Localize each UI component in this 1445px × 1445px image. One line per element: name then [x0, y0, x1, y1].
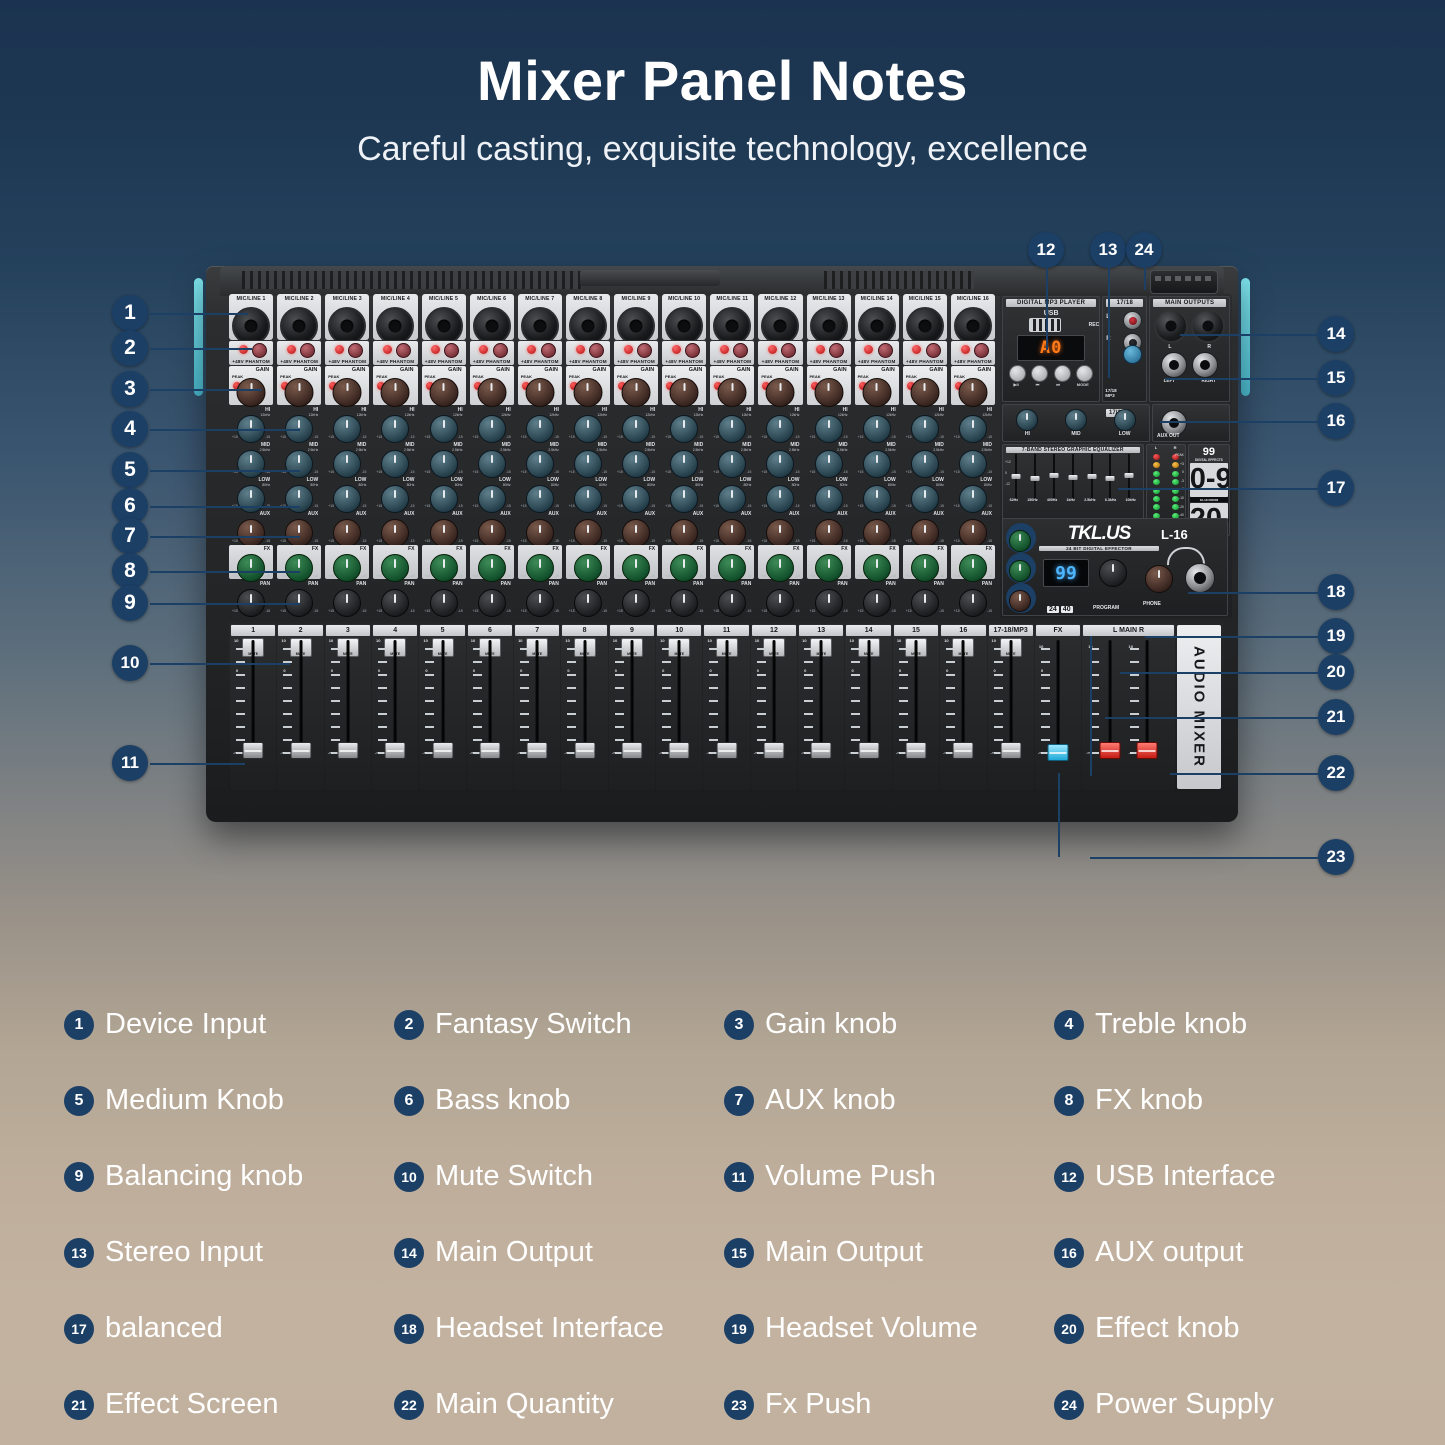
channel-1-input-jack[interactable]: MIC/LINE 1 [229, 294, 273, 340]
channel-14-mid-row: MID 2.5kHz +15-15 [855, 441, 899, 475]
fader-channel-1-cap[interactable] [243, 742, 264, 759]
channel-15-input-jack[interactable]: MIC/LINE 15 [903, 294, 947, 340]
channel-8-low-knob[interactable] [574, 485, 602, 513]
channel-12-hi-knob[interactable] [766, 415, 794, 443]
fader-channel-13-scale-top: 10 [802, 638, 806, 643]
channel-14-low-knob[interactable] [863, 485, 891, 513]
channel-4-mid-knob[interactable] [381, 450, 409, 478]
channel-4-input-jack[interactable]: MIC/LINE 4 [373, 294, 417, 340]
channel-11-hi-row: HI 12kHz +15-15 [710, 406, 754, 440]
channel-2-fx-knob[interactable] [285, 554, 313, 582]
channel-10-mid-knob[interactable] [670, 450, 698, 478]
channel-10-low-knob[interactable] [670, 485, 698, 513]
channel-4-hi-knob[interactable] [381, 415, 409, 443]
legend-badge-2: 2 [394, 1010, 424, 1040]
fader-1718-mp3-scale-mid: 0 [994, 668, 996, 673]
channel-1-gain[interactable]: GAINPEAK [229, 366, 273, 405]
master-low-knob[interactable] [1114, 409, 1136, 431]
fader-channel-2-scale-mid: 0 [283, 668, 285, 673]
channel-1-phantom[interactable]: +48V PHANTOM [229, 341, 273, 364]
channel-strip-16: MIC/LINE 16 +48V PHANTOM GAINPEAK HI 12k… [950, 294, 996, 614]
legend-badge-14: 14 [394, 1238, 424, 1268]
fader-channel-7-cap[interactable] [527, 742, 548, 759]
channel-6-fx-row: FX +15-15 [470, 545, 514, 579]
channel-1-low-knob[interactable] [237, 485, 265, 513]
channel-13-fx-row: FX +15-15 [807, 545, 851, 579]
channel-2-gain-knob[interactable] [285, 378, 314, 407]
legend-badge-3: 3 [724, 1010, 754, 1040]
channel-5-input-jack[interactable]: MIC/LINE 5 [422, 294, 466, 340]
channel-16-gain-knob[interactable] [958, 378, 987, 407]
fader-fx-scale-bot: -∞ [1038, 750, 1042, 755]
channel-2-mid-knob[interactable] [285, 450, 313, 478]
usb-interface-port[interactable] [1029, 318, 1061, 332]
channel-11-hi-knob[interactable] [718, 415, 746, 443]
channel-16-pan-knob[interactable] [959, 589, 987, 617]
channel-4-fx-knob[interactable] [381, 554, 409, 582]
channel-9-low-knob[interactable] [622, 485, 650, 513]
channel-15-low-knob[interactable] [911, 485, 939, 513]
channel-16-fx-knob[interactable] [959, 554, 987, 582]
channel-14-low-row: LOW 80Hz +15-15 [855, 476, 899, 510]
legend-badge-10: 10 [394, 1162, 424, 1192]
accent-bar-left [194, 278, 203, 396]
channel-12-pan-label: PAN [789, 581, 799, 587]
headset-volume-knob[interactable] [1145, 565, 1173, 593]
channel-16-mid-knob[interactable] [959, 450, 987, 478]
channel-16-fx-label: FX [986, 546, 992, 552]
channel-11-phantom[interactable]: +48V PHANTOM [710, 341, 754, 364]
mp3-label-play: ▶II [1013, 382, 1018, 387]
channel-6-low-freq: 80Hz [503, 483, 511, 487]
channel-13-pan-knob[interactable] [815, 589, 843, 617]
legend-badge-11: 11 [724, 1162, 754, 1192]
channel-7-pan-label: PAN [549, 581, 559, 587]
channel-3-hi-freq: 12kHz [357, 413, 367, 417]
channel-8-gain-knob[interactable] [573, 378, 602, 407]
vu-led-l-5 [1153, 496, 1160, 502]
callout-leader [1180, 334, 1318, 336]
channel-13-mid-knob[interactable] [815, 450, 843, 478]
fader-1718-mp3-scale-bot: -∞ [991, 750, 995, 755]
channel-2-fx-label: FX [312, 546, 318, 552]
callout-leader [1145, 636, 1318, 638]
channel-13-hi-knob[interactable] [815, 415, 843, 443]
channel-14-gain-knob[interactable] [862, 378, 891, 407]
callout-badge-2: 2 [112, 330, 148, 366]
power-supply-switch[interactable] [1150, 270, 1218, 294]
channel-3-input-jack[interactable]: MIC/LINE 3 [325, 294, 369, 340]
channel-15-aux-knob[interactable] [911, 519, 939, 547]
callout-leader [1108, 268, 1110, 378]
channel-8-fx-knob[interactable] [574, 554, 602, 582]
channel-5-pan-knob[interactable] [430, 589, 458, 617]
channel-9-aux-row: AUX +15-15 [614, 510, 658, 544]
channel-7-phantom[interactable]: +48V PHANTOM [518, 341, 562, 364]
channel-16-phantom[interactable]: +48V PHANTOM [951, 341, 995, 364]
channel-14-mid-knob[interactable] [863, 450, 891, 478]
channel-9-aux-knob[interactable] [622, 519, 650, 547]
channel-6-low-knob[interactable] [478, 485, 506, 513]
callout-badge-1: 1 [112, 295, 148, 331]
channel-10-aux-knob[interactable] [670, 519, 698, 547]
channel-5-gain[interactable]: GAINPEAK [422, 366, 466, 405]
channel-7-gain[interactable]: GAINPEAK [518, 366, 562, 405]
program-knob[interactable] [1099, 559, 1127, 587]
fader-channel-8-cap[interactable] [574, 742, 595, 759]
channel-3-phantom[interactable]: +48V PHANTOM [325, 341, 369, 364]
eq-freq-1kHz: 1kHz [1067, 498, 1075, 502]
channel-13-fx-knob[interactable] [815, 554, 843, 582]
channel-3-aux-knob[interactable] [333, 519, 361, 547]
channel-5-mid-knob[interactable] [430, 450, 458, 478]
fader-channel-1-scale-bot: -∞ [233, 750, 237, 755]
channel-16-low-knob[interactable] [959, 485, 987, 513]
channel-3-gain[interactable]: GAINPEAK [325, 366, 369, 405]
channel-12-aux-knob[interactable] [766, 519, 794, 547]
channel-13-aux-label: AUX [837, 511, 848, 517]
channel-2-signal-led [287, 345, 296, 354]
channel-15-pan-knob[interactable] [911, 589, 939, 617]
fader-channel-13-cap[interactable] [811, 742, 832, 759]
fader-channel-4-cap[interactable] [385, 742, 406, 759]
channel-strip-6: MIC/LINE 6 +48V PHANTOM GAINPEAK HI 12kH… [469, 294, 515, 614]
channel-5-fx-knob[interactable] [430, 554, 458, 582]
fader-fx-cap[interactable] [1048, 744, 1069, 761]
legend-item-6: 6 Bass knob [394, 1084, 724, 1117]
callout-leader [1188, 592, 1318, 594]
channel-14-hi-knob[interactable] [863, 415, 891, 443]
channel-14-fx-label: FX [889, 546, 895, 552]
channel-10-hi-freq: 12kHz [694, 413, 704, 417]
channel-strip-5: MIC/LINE 5 +48V PHANTOM GAINPEAK HI 12kH… [421, 294, 467, 614]
channel-8-hi-knob[interactable] [574, 415, 602, 443]
channel-1-fx-knob[interactable] [237, 554, 265, 582]
main-output-xlr-right[interactable] [1191, 309, 1225, 343]
channel-14-input-jack[interactable]: MIC/LINE 14 [855, 294, 899, 340]
fader-channel-5-ticks [425, 640, 437, 758]
channel-8-mid-knob[interactable] [574, 450, 602, 478]
channel-15-mid-knob[interactable] [911, 450, 939, 478]
channel-15-fx-label: FX [937, 546, 943, 552]
channel-15-phantom[interactable]: +48V PHANTOM [903, 341, 947, 364]
channel-2-phantom[interactable]: +48V PHANTOM [277, 341, 321, 364]
fader-channel-16-cap[interactable] [953, 742, 974, 759]
fader-channel-6-cap[interactable] [479, 742, 500, 759]
channel-4-pan-knob[interactable] [381, 589, 409, 617]
channel-2-input-jack[interactable]: MIC/LINE 2 [277, 294, 321, 340]
fader-channel-14-cap[interactable] [858, 742, 879, 759]
rca-jack-left[interactable] [1123, 311, 1142, 330]
legend-badge-6: 6 [394, 1086, 424, 1116]
channel-4-low-knob[interactable] [381, 485, 409, 513]
channel-1-gain-knob[interactable] [237, 378, 266, 407]
channel-9-fx-row: FX +15-15 [614, 545, 658, 579]
channel-2-low-knob[interactable] [285, 485, 313, 513]
fader-channel-10-cap[interactable] [669, 742, 690, 759]
channel-13-gain[interactable]: GAINPEAK [807, 366, 851, 405]
channel-8-pan-knob[interactable] [574, 589, 602, 617]
fx-to-aux-knob[interactable] [1009, 530, 1031, 552]
channel-10-pan-row: PAN +15-15 [662, 580, 706, 614]
channel-6-signal-led [479, 345, 488, 354]
channel-14-hi-row: HI 12kHz +15-15 [855, 406, 899, 440]
stereo-input-left[interactable]: L [1103, 309, 1146, 331]
channel-4-hi-row: HI 12kHz +15-15 [373, 406, 417, 440]
channel-10-gain[interactable]: GAINPEAK [662, 366, 706, 405]
channel-10-hi-knob[interactable] [670, 415, 698, 443]
fader-channel-5-cap[interactable] [432, 742, 453, 759]
channel-12-fx-label: FX [793, 546, 799, 552]
channel-2-gain[interactable]: GAINPEAK [277, 366, 321, 405]
channel-4-aux-label: AUX [404, 511, 415, 517]
eq-slider-150Hz[interactable] [1031, 454, 1039, 498]
channel-11-gain-knob[interactable] [718, 378, 747, 407]
eq-slider-400Hz[interactable] [1050, 454, 1058, 498]
channel-1-phantom-switch [252, 343, 267, 358]
channel-11-phantom-switch [733, 343, 748, 358]
legend-label-7: AUX knob [765, 1084, 896, 1117]
channel-3-mid-knob[interactable] [333, 450, 361, 478]
channel-9-phantom[interactable]: +48V PHANTOM [614, 341, 658, 364]
channel-5-aux-row: AUX +15-15 [422, 510, 466, 544]
channel-10-gain-knob[interactable] [670, 378, 699, 407]
channel-10-fx-knob[interactable] [670, 554, 698, 582]
legend-label-22: Main Quantity [435, 1388, 614, 1421]
channel-7-gain-knob[interactable] [525, 378, 554, 407]
channel-5-gain-knob[interactable] [429, 378, 458, 407]
channel-6-mid-knob[interactable] [478, 450, 506, 478]
legend-badge-20: 20 [1054, 1314, 1084, 1344]
channel-12-input-jack[interactable]: MIC/LINE 12 [758, 294, 802, 340]
channel-11-pan-knob[interactable] [718, 589, 746, 617]
channel-3-pan-knob[interactable] [333, 589, 361, 617]
channel-3-low-knob[interactable] [333, 485, 361, 513]
mp3-prev-button[interactable] [1031, 365, 1048, 382]
master-hi-knob[interactable] [1016, 409, 1038, 431]
main-output-xlr-left[interactable] [1154, 309, 1188, 343]
channel-11-fx-knob[interactable] [718, 554, 746, 582]
mp3-play-button[interactable] [1009, 365, 1026, 382]
channel-5-hi-knob[interactable] [430, 415, 458, 443]
channel-3-fx-knob[interactable] [333, 554, 361, 582]
page-title: Mixer Panel Notes [0, 48, 1445, 113]
channel-6-gain-knob[interactable] [477, 378, 506, 407]
channel-11-aux-label: AUX [741, 511, 752, 517]
channel-6-fx-knob[interactable] [478, 554, 506, 582]
channel-7-low-knob[interactable] [526, 485, 554, 513]
effect-item-1: 10-19 ROOM [1190, 497, 1228, 502]
channel-10-phantom[interactable]: +48V PHANTOM [662, 341, 706, 364]
eq-slider-6.3kHz[interactable] [1106, 454, 1114, 498]
legend-item-23: 23 Fx Push [724, 1388, 1054, 1421]
master-hi-label: HI [1016, 431, 1038, 437]
fader-fx-scale-top: 10 [1039, 644, 1043, 649]
channel-15-hi-knob[interactable] [911, 415, 939, 443]
channel-14-aux-knob[interactable] [863, 519, 891, 547]
channel-9-input-jack[interactable]: MIC/LINE 9 [614, 294, 658, 340]
channel-10-mid-row: MID 2.5kHz +15-15 [662, 441, 706, 475]
channel-9-hi-knob[interactable] [622, 415, 650, 443]
callout-badge-18: 18 [1318, 574, 1354, 610]
mp3-next-button[interactable] [1054, 365, 1071, 382]
fader-channel-9-cap[interactable] [621, 742, 642, 759]
channel-9-mid-knob[interactable] [622, 450, 650, 478]
channel-14-pan-knob[interactable] [863, 589, 891, 617]
channel-6-pan-knob[interactable] [478, 589, 506, 617]
channel-13-aux-knob[interactable] [815, 519, 843, 547]
aux-send-knob[interactable] [1009, 590, 1031, 612]
fader-channel-16-ticks [946, 640, 958, 758]
fader-1718-mp3-scale-top: 10 [992, 638, 996, 643]
channel-16-input-jack[interactable]: MIC/LINE 16 [951, 294, 995, 340]
channel-5-low-knob[interactable] [430, 485, 458, 513]
master-mid-knob[interactable] [1065, 409, 1087, 431]
channel-4-phantom[interactable]: +48V PHANTOM [373, 341, 417, 364]
channel-11-low-row: LOW 80Hz +15-15 [710, 476, 754, 510]
channel-6-phantom[interactable]: +48V PHANTOM [470, 341, 514, 364]
channel-12-pan-knob[interactable] [766, 589, 794, 617]
channel-9-gain-knob[interactable] [622, 378, 651, 407]
fader-channel-12: 12 MUTE 10 0 -∞ [751, 624, 797, 790]
channel-4-gain[interactable]: GAINPEAK [373, 366, 417, 405]
channel-7-hi-knob[interactable] [526, 415, 554, 443]
mp3-mode-button[interactable] [1076, 365, 1093, 382]
main-output-trs-right[interactable] [1192, 352, 1218, 378]
channel-13-input-jack[interactable]: MIC/LINE 13 [807, 294, 851, 340]
channel-5-phantom[interactable]: +48V PHANTOM [422, 341, 466, 364]
fader-channel-8: 8 MUTE 10 0 -∞ [561, 624, 607, 790]
fader-channel-3-cap[interactable] [337, 742, 358, 759]
channel-16-aux-knob[interactable] [959, 519, 987, 547]
fader-channel-6-scale-mid: 0 [473, 668, 475, 673]
channel-6-aux-knob[interactable] [478, 519, 506, 547]
channel-3-fx-label: FX [360, 546, 366, 552]
channel-12-phantom[interactable]: +48V PHANTOM [758, 341, 802, 364]
channel-14-aux-label: AUX [885, 511, 896, 517]
channel-9-fx-knob[interactable] [622, 554, 650, 582]
eq-slider-62Hz[interactable] [1012, 454, 1020, 498]
channel-14-gain[interactable]: GAINPEAK [855, 366, 899, 405]
fader-channel-10-scale-mid: 0 [662, 668, 664, 673]
channel-3-mid-row: MID 2.5kHz +15-15 [325, 441, 369, 475]
channel-15-fx-knob[interactable] [911, 554, 939, 582]
channel-12-low-knob[interactable] [766, 485, 794, 513]
channel-9-pan-knob[interactable] [622, 589, 650, 617]
channel-9-gain[interactable]: GAINPEAK [614, 366, 658, 405]
channel-16-hi-knob[interactable] [959, 415, 987, 443]
channel-7-signal-led [527, 345, 536, 354]
fader-channel-9-scale-top: 10 [613, 638, 617, 643]
callout-leader [150, 603, 300, 605]
fader-channel-15-scale-top: 10 [897, 638, 901, 643]
fader-channel-7-scale-mid: 0 [520, 668, 522, 673]
fader-channel-11-cap[interactable] [716, 742, 737, 759]
channel-4-aux-knob[interactable] [381, 519, 409, 547]
channel-11-low-knob[interactable] [718, 485, 746, 513]
channel-10-pan-knob[interactable] [670, 589, 698, 617]
channel-8-phantom[interactable]: +48V PHANTOM [566, 341, 610, 364]
callout-badge-14: 14 [1318, 316, 1354, 352]
channel-13-gain-knob[interactable] [814, 378, 843, 407]
channel-16-gain[interactable]: GAINPEAK [951, 366, 995, 405]
eq-slider-10kHz[interactable] [1125, 454, 1133, 498]
fx-send-knob[interactable] [1009, 560, 1031, 582]
channel-12-hi-row: HI 12kHz +15-15 [758, 406, 802, 440]
brand-name: TKL.US [1039, 523, 1159, 545]
channel-8-hi-freq: 12kHz [597, 413, 607, 417]
channel-13-phantom[interactable]: +48V PHANTOM [807, 341, 851, 364]
fader-channel-2-cap[interactable] [290, 742, 311, 759]
channel-14-phantom[interactable]: +48V PHANTOM [855, 341, 899, 364]
channel-11-aux-knob[interactable] [718, 519, 746, 547]
channel-7-mid-knob[interactable] [526, 450, 554, 478]
channel-12-fx-knob[interactable] [766, 554, 794, 582]
channel-3-hi-knob[interactable] [333, 415, 361, 443]
channel-6-hi-knob[interactable] [478, 415, 506, 443]
channel-12-gain[interactable]: GAINPEAK [758, 366, 802, 405]
vent-grille-right [824, 271, 974, 289]
callout-badge-15: 15 [1318, 360, 1354, 396]
fader-channel-15-cap[interactable] [905, 742, 926, 759]
fader-channel-15-track [914, 640, 917, 758]
callout-leader [1046, 268, 1048, 350]
fader-1718-mp3-cap[interactable] [1000, 742, 1021, 759]
channel-8-input-jack[interactable]: MIC/LINE 8 [566, 294, 610, 340]
channel-14-fx-knob[interactable] [863, 554, 891, 582]
channel-11-gain[interactable]: GAINPEAK [710, 366, 754, 405]
channel-12-mid-knob[interactable] [766, 450, 794, 478]
channel-7-input-jack[interactable]: MIC/LINE 7 [518, 294, 562, 340]
channel-10-input-jack[interactable]: MIC/LINE 10 [662, 294, 706, 340]
channel-6-input-jack[interactable]: MIC/LINE 6 [470, 294, 514, 340]
channel-1-mid-knob[interactable] [237, 450, 265, 478]
channel-4-hi-freq: 12kHz [405, 413, 415, 417]
channel-12-gain-knob[interactable] [766, 378, 795, 407]
channel-13-low-knob[interactable] [815, 485, 843, 513]
page-subtitle: Careful casting, exquisite technology, e… [0, 130, 1445, 169]
headset-interface-jack[interactable] [1185, 563, 1215, 593]
fader-channel-12-cap[interactable] [763, 742, 784, 759]
main-output-trs-left[interactable] [1161, 352, 1187, 378]
channel-3-gain-knob[interactable] [333, 378, 362, 407]
channel-11-input-jack[interactable]: MIC/LINE 11 [710, 294, 754, 340]
channel-8-aux-knob[interactable] [574, 519, 602, 547]
channel-1-pan-label: PAN [260, 581, 270, 587]
channel-5-aux-knob[interactable] [430, 519, 458, 547]
channel-4-gain-knob[interactable] [381, 378, 410, 407]
channel-7-aux-knob[interactable] [526, 519, 554, 547]
channel-5-low-row: LOW 80Hz +15-15 [422, 476, 466, 510]
channel-7-pan-knob[interactable] [526, 589, 554, 617]
channel-8-gain[interactable]: GAINPEAK [566, 366, 610, 405]
eq-slider-2.5kHz[interactable] [1088, 454, 1096, 498]
main-fader-cap-r[interactable] [1137, 742, 1158, 759]
channel-11-mid-knob[interactable] [718, 450, 746, 478]
channel-2-aux-knob[interactable] [285, 519, 313, 547]
fader-channel-14-ticks [851, 640, 863, 758]
fader-channel-11-ticks [709, 640, 721, 758]
channel-7-fx-knob[interactable] [526, 554, 554, 582]
channel-15-gain-knob[interactable] [910, 378, 939, 407]
channel-1-aux-knob[interactable] [237, 519, 265, 547]
stereo-source-labels: 17/18 MP3 [1105, 388, 1117, 399]
channel-2-low-freq: 80Hz [310, 483, 318, 487]
eq-slider-1kHz[interactable] [1069, 454, 1077, 498]
channel-6-gain[interactable]: GAINPEAK [470, 366, 514, 405]
channel-15-gain[interactable]: GAINPEAK [903, 366, 947, 405]
main-fader-cap-l[interactable] [1099, 742, 1120, 759]
